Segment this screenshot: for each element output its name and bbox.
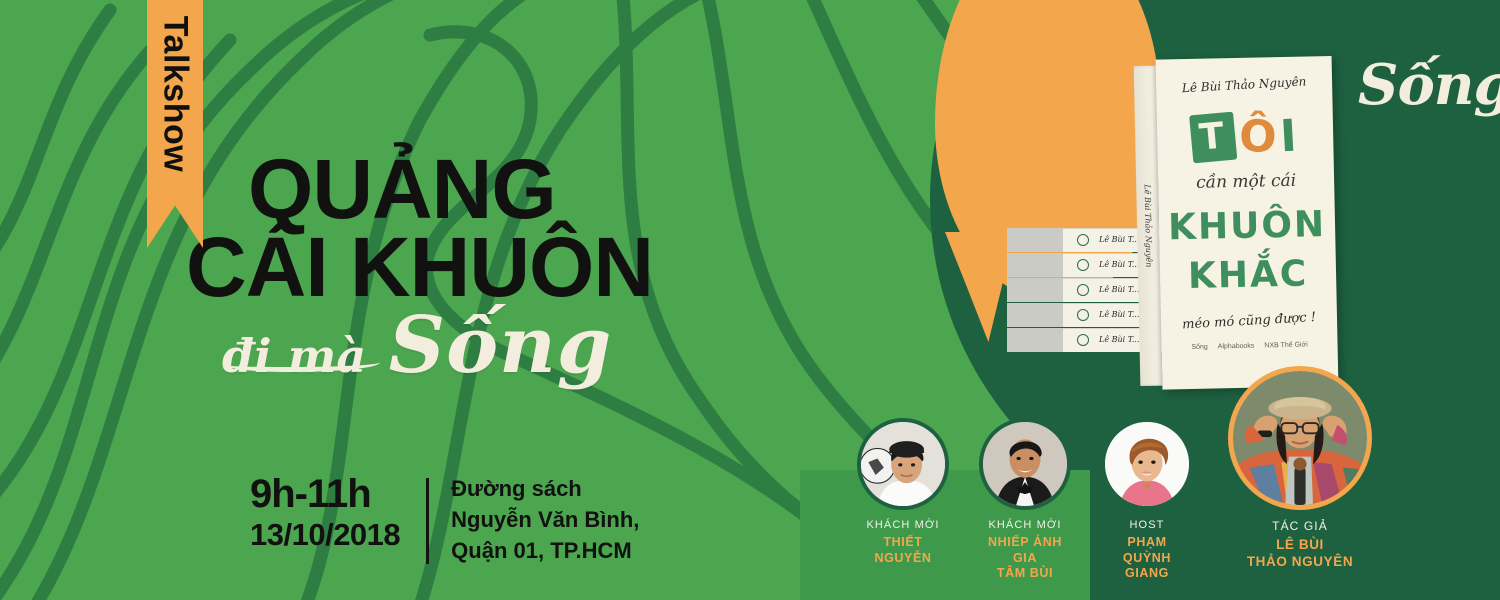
avatar	[1228, 366, 1372, 510]
speaker-card-guest-2: KHÁCH MỜI NHIẾP ẢNH GIA TÂM BÙI	[977, 418, 1073, 582]
book-title-letter-t: T	[1189, 112, 1237, 164]
event-banner: Talkshow QUẢNG CÁI KHUÔN đi mà Sống 9h-1…	[0, 0, 1500, 600]
speaker-name-line-2: NGUYỄN	[855, 551, 951, 567]
talkshow-ribbon-label: Talkshow	[156, 16, 195, 172]
book-subtitle: cần một cái	[1158, 170, 1334, 194]
location-line-1: Đường sách	[451, 474, 639, 505]
location-line-2: Nguyễn Văn Bình,	[451, 505, 639, 536]
book-logo-icon	[1077, 309, 1089, 321]
speaker-card-host: HOST PHẠM QUỲNH GIANG	[1099, 418, 1195, 582]
book-spine-text: Lê Bùi Thảo Nguyên	[1143, 184, 1154, 267]
speaker-name-line-1: PHẠM	[1099, 535, 1195, 551]
avatar	[857, 418, 949, 510]
book-tagline: méo mó cũng được !	[1161, 309, 1338, 334]
portrait-tam-bui	[983, 422, 1067, 506]
book-logo-icon	[1077, 259, 1089, 271]
event-time: 9h-11h	[250, 474, 400, 514]
speaker-name-line-2: THẢO NGUYÊN	[1225, 554, 1375, 571]
event-info: 9h-11h 13/10/2018 Đường sách Nguyễn Văn …	[250, 474, 639, 566]
book-title-word-2: KHẮC	[1160, 253, 1337, 298]
book-publisher-logos: Sống Alphabooks NXB Thế Giới	[1162, 341, 1338, 352]
headline-line-1: QUẢNG	[248, 150, 653, 228]
headline-block: QUẢNG CÁI KHUÔN đi mà Sống	[186, 150, 653, 391]
speaker-role: HOST	[1099, 519, 1195, 531]
book-title-letter-o: Ô	[1239, 110, 1281, 162]
speaker-name: LÊ BÙI THẢO NGUYÊN	[1225, 537, 1375, 571]
book-title-word-1: KHUÔN	[1159, 204, 1336, 249]
location-line-3: Quận 01, TP.HCM	[451, 536, 639, 567]
book-author-name: Lê Bùi Thảo Nguyên	[1156, 73, 1333, 97]
book-pages-edge	[1007, 228, 1063, 252]
publisher-logo-nxb: NXB Thế Giới	[1264, 342, 1308, 350]
avatar	[979, 418, 1071, 510]
speaker-role: KHÁCH MỜI	[855, 519, 951, 531]
speaker-name-line-1: LÊ BÙI	[1225, 537, 1375, 554]
book-title-letter-i: I	[1278, 110, 1300, 162]
book-logo-icon	[1077, 284, 1089, 296]
speakers-row: KHÁCH MỜI THIẾT NGUYỄN	[855, 418, 1375, 582]
script-big-text: Sống	[389, 300, 613, 391]
stack-spine-text: Lê Bùi T...	[1099, 260, 1140, 269]
headline-script-line: đi mà Sống	[222, 300, 653, 391]
portrait-pham-quynh-giang	[1105, 422, 1189, 506]
speaker-name-line-2: QUỲNH GIANG	[1099, 551, 1195, 582]
book-pages-edge	[1007, 303, 1063, 327]
speaker-name: PHẠM QUỲNH GIANG	[1099, 535, 1195, 582]
song-brand-logo: Sống	[1358, 52, 1500, 118]
stack-spine-text: Lê Bùi T...	[1099, 335, 1140, 344]
info-divider	[426, 478, 429, 564]
book-pages-edge	[1007, 253, 1063, 277]
portrait-le-bui-thao-nguyen	[1233, 371, 1367, 505]
event-location: Đường sách Nguyễn Văn Bình, Quận 01, TP.…	[451, 474, 639, 566]
book-pages-edge	[1007, 328, 1063, 352]
book-cover: Lê Bùi Thảo Nguyên Lê Bùi Thảo Nguyên TÔ…	[1134, 56, 1339, 390]
publisher-logo-alphabooks: Alphabooks	[1218, 343, 1255, 351]
headline-line-2: CÁI KHUÔN	[186, 228, 653, 306]
event-date: 13/10/2018	[250, 517, 400, 553]
speaker-role: KHÁCH MỜI	[977, 519, 1073, 531]
stack-spine-text: Lê Bùi T...	[1099, 310, 1140, 319]
speaker-name-line-1: NHIẾP ẢNH GIA	[977, 535, 1073, 566]
book-logo-icon	[1077, 334, 1089, 346]
speaker-card-guest-1: KHÁCH MỜI THIẾT NGUYỄN	[855, 418, 951, 566]
speaker-card-author: TÁC GIẢ LÊ BÙI THẢO NGUYÊN	[1225, 366, 1375, 571]
stack-spine-text: Lê Bùi T...	[1099, 285, 1140, 294]
book-logo-icon	[1077, 234, 1089, 246]
stack-spine-text: Lê Bùi T...	[1099, 235, 1140, 244]
book-title-toi: TÔI	[1157, 102, 1334, 170]
speaker-role: TÁC GIẢ	[1225, 519, 1375, 533]
speaker-name: THIẾT NGUYỄN	[855, 535, 951, 566]
event-time-block: 9h-11h 13/10/2018	[250, 474, 400, 553]
book-pages-edge	[1007, 278, 1063, 302]
publisher-logo-song: Sống	[1191, 344, 1208, 351]
speaker-name-line-1: THIẾT	[855, 535, 951, 551]
speaker-name-line-2: TÂM BÙI	[977, 566, 1073, 582]
portrait-thiet-nguyen	[861, 422, 945, 506]
speaker-name: NHIẾP ẢNH GIA TÂM BÙI	[977, 535, 1073, 582]
book-front-cover: Lê Bùi Thảo Nguyên TÔI cần một cái KHUÔN…	[1156, 56, 1339, 390]
avatar	[1101, 418, 1193, 510]
